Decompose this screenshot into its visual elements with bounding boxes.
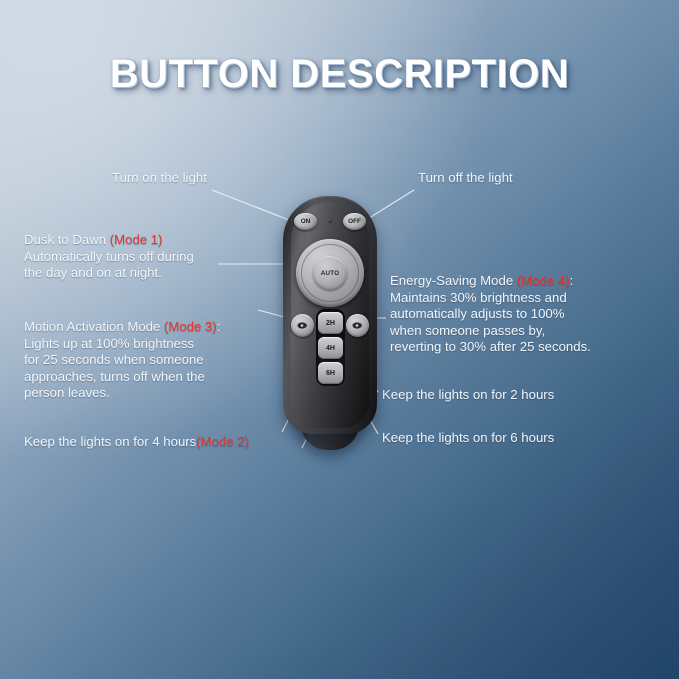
remote-hour-button-group: 2H 4H 6H	[316, 309, 345, 386]
infographic-canvas: BUTTON DESCRIPTION Turn on the light Tur…	[0, 0, 679, 679]
remote-2h-button[interactable]: 2H	[318, 312, 343, 334]
callout-turn-off: Turn off the light	[418, 170, 513, 186]
callout-dusk-heading: Dusk to Dawn	[24, 232, 110, 247]
ir-led-indicator	[328, 219, 332, 223]
remote-auto-dial[interactable]: AUTO	[296, 239, 364, 307]
remote-on-button[interactable]: ON	[294, 213, 317, 230]
motion-sensor-icon	[351, 320, 364, 331]
callout-dusk-body: Automatically turns off during the day a…	[24, 249, 194, 280]
remote-auto-button[interactable]: AUTO	[313, 256, 347, 290]
callout-energy-heading: Energy-Saving Mode	[390, 273, 517, 288]
callout-motion-mode-badge: (Mode 3)	[164, 319, 217, 334]
remote-sensor-right-button[interactable]	[346, 314, 369, 337]
callout-turn-on: Turn on the light	[112, 170, 207, 186]
callout-two-hours: Keep the lights on for 2 hours	[382, 387, 554, 403]
remote-sensor-left-button[interactable]	[291, 314, 314, 337]
callout-dusk-mode-badge: (Mode 1)	[110, 232, 163, 247]
remote-6h-button[interactable]: 6H	[318, 362, 343, 384]
remote-control: ON OFF AUTO 2H 4H 6H	[283, 196, 377, 434]
callout-six-hours: Keep the lights on for 6 hours	[382, 430, 554, 446]
motion-sensor-icon	[296, 320, 309, 331]
callout-four-hours-mode-badge: (Mode 2)	[196, 434, 249, 449]
callout-motion-heading: Motion Activation Mode	[24, 319, 164, 334]
remote-off-button[interactable]: OFF	[343, 213, 366, 230]
callout-four-hours-heading: Keep the lights on for 4 hours	[24, 434, 196, 449]
callout-dusk-to-dawn: Dusk to Dawn (Mode 1) Automatically turn…	[24, 216, 229, 282]
callout-four-hours: Keep the lights on for 4 hours(Mode 2)	[24, 434, 249, 450]
remote-4h-button[interactable]: 4H	[318, 337, 343, 359]
callout-energy-mode-badge: (Mode 4)	[517, 273, 570, 288]
page-title: BUTTON DESCRIPTION	[0, 52, 679, 97]
callout-energy-saving: Energy-Saving Mode (Mode 4): Maintains 3…	[390, 257, 622, 355]
callout-motion-activation: Motion Activation Mode (Mode 3): Lights …	[24, 303, 259, 401]
